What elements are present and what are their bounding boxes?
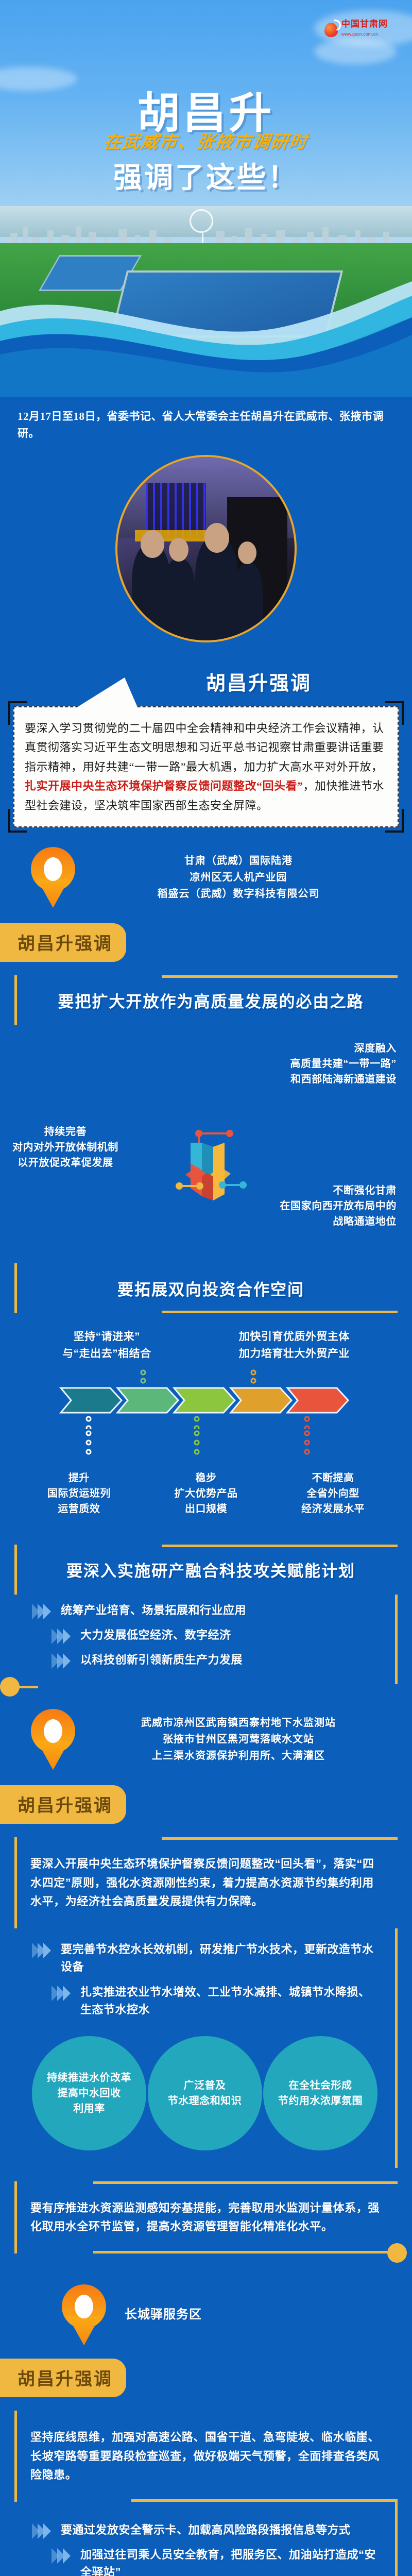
- bullet-4-text: 要完善节水控水长效机制，研发推广节水技术，更新改造节水设备: [61, 1941, 377, 1976]
- location-block-2: 武威市凉州区武南镇西寨村地下水监测站 张掖市甘州区黑河莺落峡水文站 上三渠水资源…: [0, 1684, 412, 1770]
- heading-3: 要深入实施研产融合科技攻关赋能计划: [30, 1558, 391, 1581]
- water-saving-circles: 持续推进水价改革 提高中水回收 利用率 广泛普及 节水理念和知识 在全社会形成 …: [14, 2019, 395, 2150]
- location-3-line-1: 长城驿服务区: [125, 2305, 391, 2325]
- section-3-badge: 胡昌升强调: [0, 1785, 126, 1824]
- location-block-1: 甘肃（武威）国际陆港 凉州区无人机产业园 稻盛云（武威）数字科技有限公司: [0, 827, 412, 908]
- safety-paragraph: 坚持底线思维，加强对高速公路、国省干道、急弯陡坡、临水临崖、长坡窄路等重要路段检…: [30, 2428, 384, 2484]
- bullet-1-text: 统筹产业培育、场景拓展和行业应用: [61, 1602, 246, 1619]
- water-paragraph-block: 要深入开展中央生态环境保护督察反馈问题整改“回头看”，落实“四水四定”原则，强化…: [14, 1837, 398, 1928]
- map-pin-icon: [62, 2284, 106, 2345]
- site-logo[interactable]: 中国甘肃网 www.gscn.com.cn: [323, 18, 401, 40]
- flow-bottom-labels: 提升 国际货运班列 运营质效 稳步 扩大优势产品 出口规模 不断提高 全省外向型…: [0, 1465, 412, 1517]
- location-1-line-3: 稻盛云（武威）数字科技有限公司: [158, 888, 320, 900]
- flow-bottom-label-2: 稳步 扩大优势产品 出口规模: [174, 1470, 237, 1517]
- radial-item-1: 深度融入 高质量共建“一带一路” 和西部陆海新通道建设: [290, 1041, 397, 1087]
- quote-1-before: 要深入学习贯彻党的二十届四中全会精神和中央经济工作会议精神，认真贯彻落实习近平生…: [25, 722, 384, 773]
- bullet-item: 大力发展低空经济、数字经济: [14, 1619, 395, 1644]
- double-chevron-icon: [51, 2548, 73, 2564]
- flow-top-labels: 坚持“请进来” 与“走出去”相结合 加快引育优质外贸主体 加力培育壮大外贸产业: [0, 1313, 412, 1362]
- section-3-badge-row: 胡昌升强调: [0, 1785, 412, 1824]
- safety-paragraph-block: 坚持底线思维，加强对高速公路、国省干道、急弯陡坡、临水临崖、长坡窄路等重要路段检…: [14, 2411, 398, 2502]
- quote-card-1: 要深入学习贯彻党的二十届四中全会精神和中央经济工作会议精神，认真贯彻落实习近平生…: [13, 706, 399, 827]
- heading-2: 要拓展双向投资合作空间: [30, 1277, 391, 1300]
- double-chevron-icon: [32, 2523, 54, 2539]
- location-2-line-1: 武威市凉州区武南镇西寨村地下水监测站: [141, 1717, 336, 1728]
- cloud-decoration: [314, 39, 397, 64]
- water-paragraph: 要深入开展中央生态环境保护督察反馈问题整改“回头看”，落实“四水四定”原则，强化…: [30, 1855, 384, 1911]
- quote-1-highlight: 扎实开展中央生态环境保护督察反馈问题整改“回头看”: [25, 779, 303, 792]
- bullet-item: 要完善节水控水长效机制，研发推广节水技术，更新改造节水设备: [14, 1934, 395, 1976]
- flow-bottom-label-3: 不断提高 全省外向型 经济发展水平: [301, 1470, 365, 1517]
- lead-paragraph: 12月17日至18日，省委书记、省人大常委会主任胡昌升在武威市、张掖市调研。: [18, 408, 394, 442]
- section-2-badge: 胡昌升强调: [0, 923, 126, 962]
- logo-text-cn: 中国甘肃网: [341, 19, 388, 29]
- hero-banner: 中国甘肃网 www.gscn.com.cn 胡昌升 在武威市、张掖市调研时 强调…: [0, 0, 412, 397]
- location-1-line-2: 凉州区无人机产业园: [190, 872, 287, 883]
- hero-emphasis: 强调了这些！: [0, 155, 412, 196]
- section-1-badge: 胡昌升强调: [206, 673, 312, 694]
- ferris-wheel-icon: [190, 209, 213, 233]
- bullet-item: 要通过发放安全警示卡、加载高风险路段播报信息等方式: [14, 2514, 395, 2539]
- location-2-line-2: 张掖市甘州区黑河莺落峡水文站: [163, 1734, 314, 1745]
- speech-tail: [75, 677, 138, 708]
- double-chevron-icon: [32, 1604, 54, 1619]
- location-2-line-3: 上三渠水资源保护利用所、大满灌区: [152, 1750, 325, 1761]
- heading-block-3: 要深入实施研产融合科技攻关赋能计划: [14, 1545, 398, 1595]
- double-chevron-icon: [51, 1653, 73, 1669]
- bullets-group-3: 要通过发放安全警示卡、加载高风险路段播报信息等方式 加强过往司乘人员安全教育，把…: [14, 2502, 398, 2576]
- map-pin-icon: [31, 847, 75, 908]
- bullet-5-text: 扎实推进农业节水增效、工业节水减排、城镇节水降损、生态节水控水: [80, 1984, 377, 2019]
- flow-bottom-label-1: 提升 国际货运班列 运营质效: [47, 1470, 111, 1517]
- map-pin-icon: [31, 1709, 75, 1770]
- section-4-badge-row: 胡昌升强调: [0, 2359, 412, 2397]
- inspection-photo-datacenter: [115, 455, 297, 642]
- flow-top-label-1: 坚持“请进来” 与“走出去”相结合: [62, 1329, 151, 1362]
- double-chevron-icon: [32, 1943, 54, 1958]
- heading-block-1: 要把扩大开放作为高质量发展的必由之路: [14, 975, 398, 1025]
- bullet-2-text: 大力发展低空经济、数字经济: [80, 1626, 231, 1644]
- lead-paragraph-block: 12月17日至18日，省委书记、省人大常委会主任胡昌升在武威市、张掖市调研。: [0, 397, 412, 442]
- location-block-3: 长城驿服务区: [0, 2253, 412, 2345]
- bullets-group-1: 统筹产业培育、场景拓展和行业应用 大力发展低空经济、数字经济 以科技创新引领新质…: [14, 1595, 398, 1684]
- circle-2: 广泛普及 节水理念和知识: [148, 2036, 262, 2150]
- location-1-line-1: 甘肃（武威）国际陆港: [184, 855, 293, 867]
- section-1-badge-row: 胡昌升强调: [0, 656, 412, 698]
- monitor-paragraph: 要有序推进水资源监测感知夯基提能，完善取用水监测计量体系，强化取用水全环节监管，…: [30, 2199, 384, 2236]
- bullet-6-text: 要通过发放安全警示卡、加载高风险路段播报信息等方式: [61, 2521, 351, 2539]
- monitor-paragraph-block: 要有序推进水资源监测感知夯基提能，完善取用水监测计量体系，强化取用水全环节监管，…: [14, 2181, 398, 2254]
- radial-item-2: 持续完善 对内对外开放体制机制 以开放促改革促发展: [12, 1124, 118, 1171]
- bullet-item: 扎实推进农业节水增效、工业节水减排、城镇节水降损、生态节水控水: [14, 1976, 395, 2019]
- chevron-flow-strip: [0, 1367, 412, 1429]
- heading-block-2: 要拓展双向投资合作空间: [14, 1263, 398, 1313]
- double-chevron-icon: [51, 1629, 73, 1644]
- infographic-page: 中国甘肃网 www.gscn.com.cn 胡昌升 在武威市、张掖市调研时 强调…: [0, 0, 412, 2576]
- radial-item-3: 不断强化甘肃 在国家向西开放布局中的 战略通道地位: [280, 1183, 397, 1229]
- bullet-7-text: 加强过往司乘人员安全教育，把服务区、加油站打造成“安全驿站”: [80, 2546, 377, 2576]
- bullet-item: 统筹产业培育、场景拓展和行业应用: [14, 1595, 395, 1619]
- circle-1: 持续推进水价改革 提高中水回收 利用率: [32, 2036, 146, 2150]
- double-chevron-icon: [51, 1986, 73, 2001]
- bullet-item: 以科技创新引领新质生产力发展: [14, 1644, 395, 1669]
- wave-ribbon-decoration: [0, 264, 412, 397]
- bullets-group-2: 要完善节水控水长效机制，研发推广节水技术，更新改造节水设备 扎实推进农业节水增效…: [14, 1928, 398, 2167]
- flow-connector-dots: [0, 1429, 412, 1465]
- circle-3: 在全社会形成 节约用水浓厚氛围: [263, 2036, 377, 2150]
- section-4-badge: 胡昌升强调: [0, 2359, 126, 2397]
- flame-logo-icon: [323, 20, 339, 38]
- bullet-item: 加强过往司乘人员安全教育，把服务区、加油站打造成“安全驿站”: [14, 2539, 395, 2576]
- logo-url-text: www.gscn.com.cn: [341, 31, 378, 37]
- section-2-badge-row: 胡昌升强调: [0, 923, 412, 962]
- flow-top-label-2: 加快引育优质外贸主体 加力培育壮大外贸产业: [239, 1329, 350, 1362]
- hero-subtitle: 在武威市、张掖市调研时: [0, 128, 412, 153]
- heading-1: 要把扩大开放作为高质量发展的必由之路: [30, 989, 391, 1012]
- open-development-diagram: 深度融入 高质量共建“一带一路” 和西部陆海新通道建设 持续完善 对内对外开放体…: [0, 1028, 412, 1250]
- bullet-3-text: 以科技创新引领新质生产力发展: [80, 1651, 243, 1669]
- network-cube-icon: [170, 1124, 252, 1207]
